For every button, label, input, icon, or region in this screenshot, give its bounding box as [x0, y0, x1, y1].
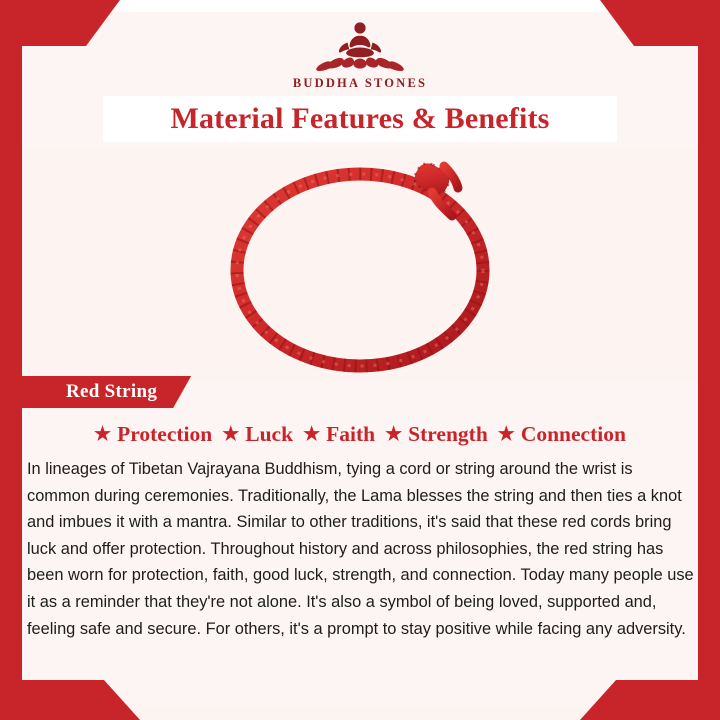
keyword-item: ★ Strength	[375, 422, 488, 447]
star-icon: ★	[94, 425, 111, 444]
title-banner: Material Features & Benefits	[103, 96, 617, 142]
keyword-label: Protection	[117, 422, 212, 447]
product-ribbon: Red String	[22, 376, 191, 408]
keyword-label: Strength	[408, 422, 488, 447]
keyword-item: ★ Faith	[293, 422, 375, 447]
keyword-item: ★ Connection	[488, 422, 626, 447]
frame-border-left	[0, 0, 22, 720]
product-image-area	[22, 150, 698, 380]
page-title: Material Features & Benefits	[170, 102, 549, 136]
star-icon: ★	[303, 425, 320, 444]
keyword-label: Luck	[245, 422, 293, 447]
star-icon: ★	[385, 425, 402, 444]
star-icon: ★	[498, 425, 515, 444]
brand-logo: BUDDHA STONES	[0, 14, 720, 91]
brand-name: BUDDHA STONES	[293, 76, 427, 91]
description-text: In lineages of Tibetan Vajrayana Buddhis…	[25, 456, 697, 642]
star-icon: ★	[222, 425, 239, 444]
keyword-list: ★ Protection ★ Luck ★ Faith ★ Strength ★…	[30, 422, 690, 447]
poster-canvas: BUDDHA STONES Material Features & Benefi…	[0, 0, 720, 720]
keyword-item: ★ Protection	[94, 422, 212, 447]
lotus-meditation-figure-icon	[300, 14, 420, 74]
product-ribbon-label: Red String	[66, 381, 157, 403]
frame-border-right	[698, 0, 720, 720]
keyword-label: Faith	[326, 422, 375, 447]
keyword-item: ★ Luck	[212, 422, 293, 447]
red-braided-string-bracelet-icon	[210, 158, 510, 373]
keyword-label: Connection	[521, 422, 626, 447]
